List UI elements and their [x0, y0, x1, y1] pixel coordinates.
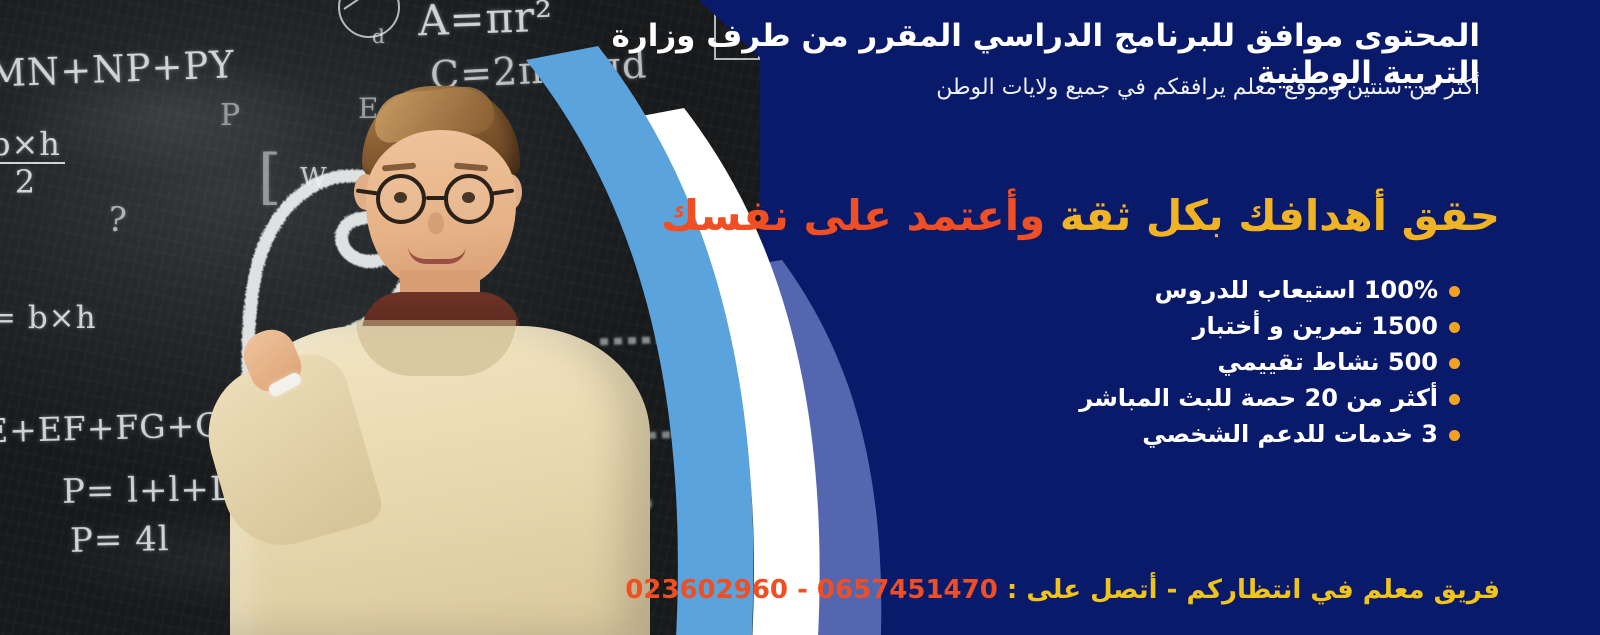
student-figure: [196, 78, 666, 635]
feature-text: 100% استيعاب للدروس: [1155, 276, 1439, 304]
page-subtitle: أكثر من سنتين وموقع معلم يرافقكم في جميع…: [600, 74, 1480, 103]
bullet-dot-icon: [1449, 430, 1460, 441]
contact-line: فريق معلم في انتظاركم - أتصل على : 06574…: [640, 575, 1500, 605]
student-mouth: [408, 246, 466, 264]
feature-text: 3 خدمات للدعم الشخصي: [1142, 420, 1438, 448]
headline-part-gold: حقق أهدافك بكل ثقة: [1060, 191, 1500, 240]
eyeglasses-bridge: [426, 196, 446, 200]
student-nose: [428, 212, 444, 234]
headline: حقق أهدافك بكل ثقة وأعتمد على نفسك: [680, 190, 1500, 243]
feature-text: أكثر من 20 حصة للبث المباشر: [1079, 384, 1438, 412]
banner-content: المحتوى موافق للبرنامج الدراسي المقرر من…: [600, 0, 1600, 635]
list-item: 500 نشاط تقييمي: [680, 350, 1460, 374]
eyeglasses-lens-left: [376, 174, 426, 224]
promo-banner: MN+NP+PY b×h 2 ? = b×h E+EF+FG+GD P= l+l…: [0, 0, 1600, 635]
list-item: 100% استيعاب للدروس: [680, 278, 1460, 302]
headline-part-orange: وأعتمد على نفسك: [661, 191, 1060, 240]
feature-text: 1500 تمرين و أختبار: [1193, 312, 1438, 340]
list-item: أكثر من 20 حصة للبث المباشر: [680, 386, 1460, 410]
eyeglasses-lens-right: [444, 174, 494, 224]
contact-lead-text: فريق معلم في انتظاركم - أتصل على :: [1007, 575, 1500, 605]
contact-phone-numbers[interactable]: 0657451470 - 023602960: [625, 575, 998, 605]
bullet-dot-icon: [1449, 394, 1460, 405]
list-item: 1500 تمرين و أختبار: [680, 314, 1460, 338]
feature-text: 500 نشاط تقييمي: [1218, 348, 1438, 376]
feature-list: 100% استيعاب للدروس 1500 تمرين و أختبار …: [680, 278, 1460, 458]
bullet-dot-icon: [1449, 358, 1460, 369]
bullet-dot-icon: [1449, 286, 1460, 297]
bullet-dot-icon: [1449, 322, 1460, 333]
list-item: 3 خدمات للدعم الشخصي: [680, 422, 1460, 446]
